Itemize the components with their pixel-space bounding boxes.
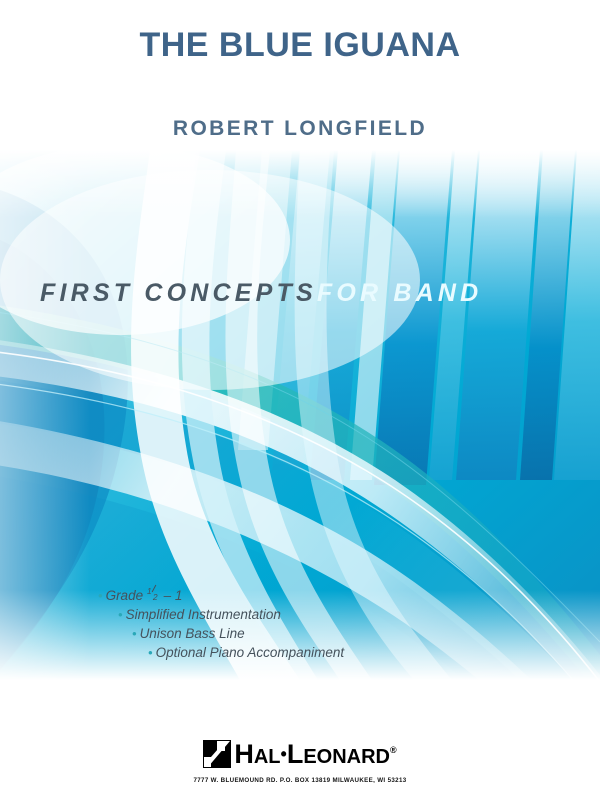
- page-title: THE BLUE IGUANA: [0, 26, 600, 65]
- registered-mark: ®: [390, 745, 397, 755]
- publisher-address: 7777 W. BLUEMOUND RD. P.O. BOX 13819 MIL…: [0, 777, 600, 784]
- publisher-wordmark: HAL•LEONARD®: [234, 736, 396, 771]
- feature-label: Unison Bass Line: [140, 626, 245, 641]
- feature-text-after: – 1: [160, 588, 183, 603]
- series-secondary-label: FOR BAND: [317, 279, 483, 307]
- bullet-dot-icon: •: [98, 588, 106, 603]
- bullet-dot-icon: •: [148, 645, 156, 660]
- publisher-logo-row: HAL•LEONARD®: [203, 736, 396, 771]
- list-item: •Simplified Instrumentation: [118, 605, 600, 624]
- list-item: •Grade 12 – 1: [98, 586, 600, 605]
- feature-list: •Grade 12 – 1 •Simplified Instrumentatio…: [0, 586, 600, 662]
- list-item: •Optional Piano Accompaniment: [148, 643, 600, 662]
- series-wordmark: FIRST CONCEPTSFOR BAND: [40, 279, 482, 308]
- feature-text-before: Grade: [106, 588, 147, 603]
- bullet-dot-icon: •: [132, 626, 140, 641]
- feature-label: Simplified Instrumentation: [126, 607, 281, 622]
- hal-leonard-logo-icon: [203, 740, 231, 768]
- sheet-music-cover: THE BLUE IGUANA ROBERT LONGFIELD: [0, 0, 600, 800]
- wordmark-eonard: EONARD: [303, 746, 390, 768]
- publisher-logo: HAL•LEONARD® 7777 W. BLUEMOUND RD. P.O. …: [0, 736, 600, 784]
- feature-label: Optional Piano Accompaniment: [156, 645, 345, 660]
- composer-name: ROBERT LONGFIELD: [0, 117, 600, 141]
- series-primary-label: FIRST CONCEPTS: [40, 279, 317, 307]
- wordmark-separator: •: [281, 744, 287, 764]
- list-item: •Unison Bass Line: [132, 624, 600, 643]
- fraction-denominator: 2: [153, 588, 158, 607]
- wordmark-al: AL: [254, 746, 281, 768]
- bullet-dot-icon: •: [118, 607, 126, 622]
- grade-fraction: 12: [147, 587, 160, 600]
